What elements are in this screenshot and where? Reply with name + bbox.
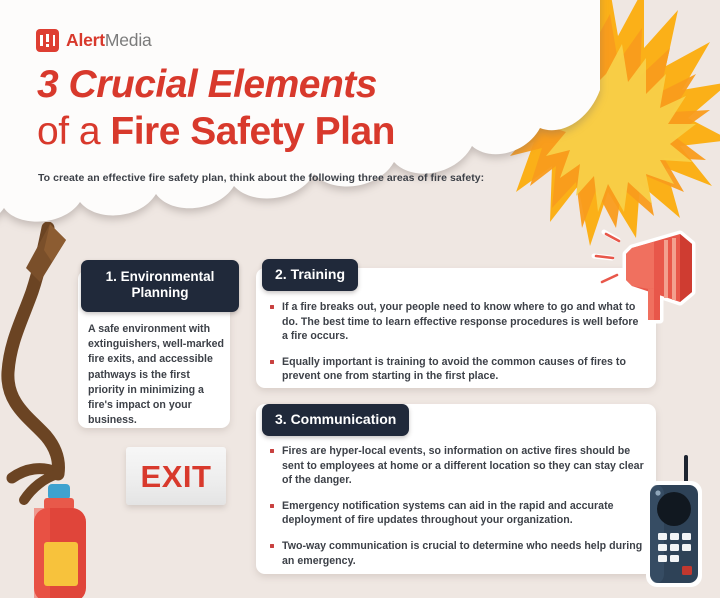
bullet-text: Emergency notification systems can aid i…: [282, 499, 646, 528]
bullet-marker-icon: [270, 449, 274, 453]
bullet-text: Two-way communication is crucial to dete…: [282, 539, 646, 568]
list-item: Equally important is training to avoid t…: [270, 355, 646, 384]
megaphone-icon: [588, 228, 708, 332]
bullet-marker-icon: [270, 305, 274, 309]
mobile-phone-icon: [636, 455, 716, 598]
exit-sign-label: EXIT: [141, 461, 212, 492]
page-subtitle: To create an effective fire safety plan,…: [38, 172, 484, 184]
brand-wordmark: AlertMedia: [66, 32, 152, 50]
title-line-2-bold: Fire Safety Plan: [110, 110, 395, 153]
alert-square-icon: [36, 29, 59, 52]
bullet-text: Equally important is training to avoid t…: [282, 355, 646, 384]
exit-sign: EXIT: [126, 447, 226, 505]
list-item: Two-way communication is crucial to dete…: [270, 539, 646, 568]
infographic-canvas: AlertMedia 3 Crucial Elements of a Fire …: [0, 0, 720, 598]
card-3-title: 3. Communication: [262, 404, 409, 436]
title-line-2-light: of a: [37, 110, 110, 153]
title-line-1: 3 Crucial Elements: [37, 62, 395, 108]
card-1-title: 1. Environmental Planning: [81, 260, 239, 312]
brand-logo: AlertMedia: [36, 29, 152, 52]
title-line-2: of a Fire Safety Plan: [37, 108, 395, 155]
brand-name-alert: Alert: [66, 30, 105, 50]
card-3-bullets: Fires are hyper-local events, so informa…: [270, 444, 646, 568]
list-item: Fires are hyper-local events, so informa…: [270, 444, 646, 488]
bullet-marker-icon: [270, 504, 274, 508]
card-2-title: 2. Training: [262, 259, 358, 291]
page-title: 3 Crucial Elements of a Fire Safety Plan: [37, 62, 395, 155]
list-item: Emergency notification systems can aid i…: [270, 499, 646, 528]
card-1-body: A safe environment with extinguishers, w…: [88, 322, 224, 428]
bullet-marker-icon: [270, 360, 274, 364]
brand-name-media: Media: [105, 30, 152, 50]
bullet-marker-icon: [270, 544, 274, 548]
bullet-text: Fires are hyper-local events, so informa…: [282, 444, 646, 488]
